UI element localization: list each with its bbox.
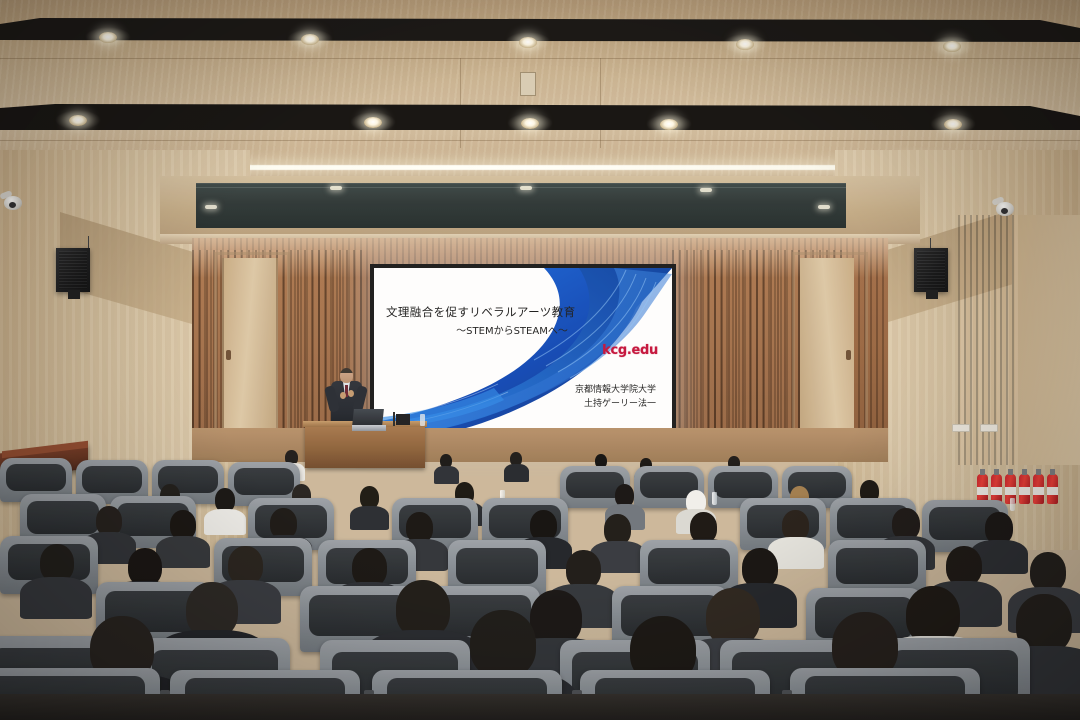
soffit-highlight xyxy=(700,188,712,192)
microphone-stand xyxy=(393,412,395,426)
right-far-wall xyxy=(1018,215,1080,465)
person-shoulders xyxy=(350,506,389,530)
wall-speaker-right xyxy=(914,248,948,292)
slide-subtitle: ～STEMからSTEAMへ～ xyxy=(402,322,622,337)
person-head xyxy=(1030,552,1066,592)
speaker-grille xyxy=(917,251,945,289)
speaker-bracket xyxy=(68,290,80,299)
ceiling-seam xyxy=(0,140,1080,141)
presenter-hand-right xyxy=(348,390,354,397)
ceiling-downlight xyxy=(301,34,319,45)
slide-organization: 京都情報大学院大学 土持ゲーリー法一 xyxy=(575,383,656,412)
laptop-screen[interactable] xyxy=(352,409,384,426)
person-head xyxy=(470,610,536,678)
person-shoulders xyxy=(20,577,92,619)
ceiling-downlight xyxy=(364,117,382,128)
slide-org-name: 京都情報大学院大学 xyxy=(575,385,656,395)
ceiling-seam xyxy=(600,58,601,148)
ceiling-downlight xyxy=(660,119,678,130)
ceiling-seam xyxy=(0,58,1080,59)
slide-logo: kcg.edu xyxy=(602,343,658,358)
person-shoulders xyxy=(204,509,246,535)
projection-screen[interactable]: 文理融合を促すリベラルアーツ教育 ～STEMからSTEAMへ～ kcg.edu … xyxy=(374,268,672,436)
water-bottle xyxy=(420,414,425,426)
ceiling-downlight xyxy=(521,118,539,129)
wall-speaker-left xyxy=(56,248,90,292)
soffit-highlight xyxy=(818,205,830,209)
presenter-hand-left xyxy=(340,392,346,399)
laptop-keyboard[interactable] xyxy=(352,425,386,431)
slide-title: 文理融合を促すリベラルアーツ教育 xyxy=(386,304,636,320)
ceiling-downlight xyxy=(943,41,961,52)
camera-lens xyxy=(9,202,16,208)
ceiling-vent xyxy=(520,72,536,96)
ceiling-downlight xyxy=(69,115,87,126)
soffit-highlight xyxy=(205,205,217,209)
person-shoulders xyxy=(434,466,459,484)
person-shoulders xyxy=(156,536,210,568)
ceiling-downlight xyxy=(736,39,754,50)
floor-strip xyxy=(0,694,1080,720)
person-head xyxy=(946,546,982,586)
slide-presenter-name: 土持ゲーリー法一 xyxy=(584,399,656,409)
wall-switch-plate[interactable] xyxy=(952,424,970,432)
person-head xyxy=(742,548,778,588)
speaker-grille xyxy=(59,251,87,289)
security-camera-left xyxy=(0,192,24,209)
ceiling-seam xyxy=(460,58,461,148)
water-bottle xyxy=(712,492,717,505)
camera-lens xyxy=(1001,208,1008,214)
av-equipment-box xyxy=(396,414,410,425)
security-camera-right xyxy=(992,198,1016,215)
speaker-bracket xyxy=(926,290,938,299)
soffit-highlight xyxy=(520,186,532,190)
soffit-highlight xyxy=(330,186,342,190)
lecture-hall-photo: 文理融合を促すリベラルアーツ教育 ～STEMからSTEAMへ～ kcg.edu … xyxy=(0,0,1080,720)
audience-seating-area xyxy=(0,440,1080,720)
left-door-handle[interactable] xyxy=(226,350,231,360)
presenter-head xyxy=(340,368,353,383)
ceiling-downlight xyxy=(99,32,117,43)
person-shoulders xyxy=(504,464,529,482)
speaker-mount-wire xyxy=(88,236,89,248)
right-door-handle[interactable] xyxy=(846,350,851,360)
ceiling-downlight xyxy=(519,37,537,48)
ceiling-downlight xyxy=(944,119,962,130)
wall-switch-plate[interactable] xyxy=(980,424,998,432)
water-bottle xyxy=(1010,498,1015,511)
